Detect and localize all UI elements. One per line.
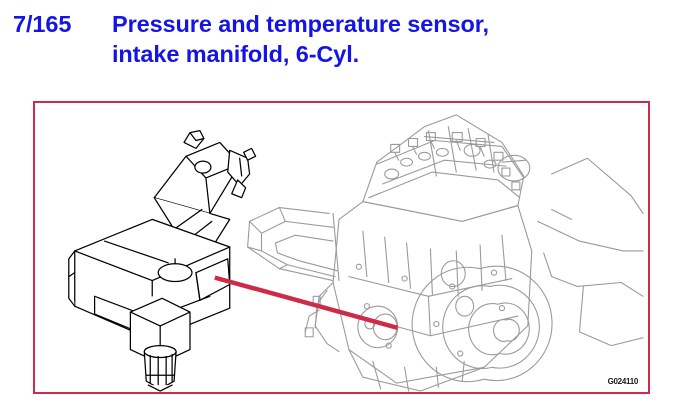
heading-line-1: 7/165Pressure and temperature sensor, (13, 9, 653, 39)
figure-reference-code: G024110 (608, 377, 638, 386)
figure-illustration (35, 103, 648, 392)
leader-line (215, 278, 398, 328)
engine-illustration (248, 115, 643, 391)
page-title: 7/165Pressure and temperature sensor, in… (13, 9, 653, 69)
heading-title-second-line: intake manifold, 6-Cyl. (13, 39, 653, 69)
sensor-illustration (69, 131, 256, 391)
section-number: 7/165 (13, 9, 112, 39)
heading-title-first-line: Pressure and temperature sensor, (112, 9, 489, 39)
figure-panel: G024110 (33, 101, 650, 394)
